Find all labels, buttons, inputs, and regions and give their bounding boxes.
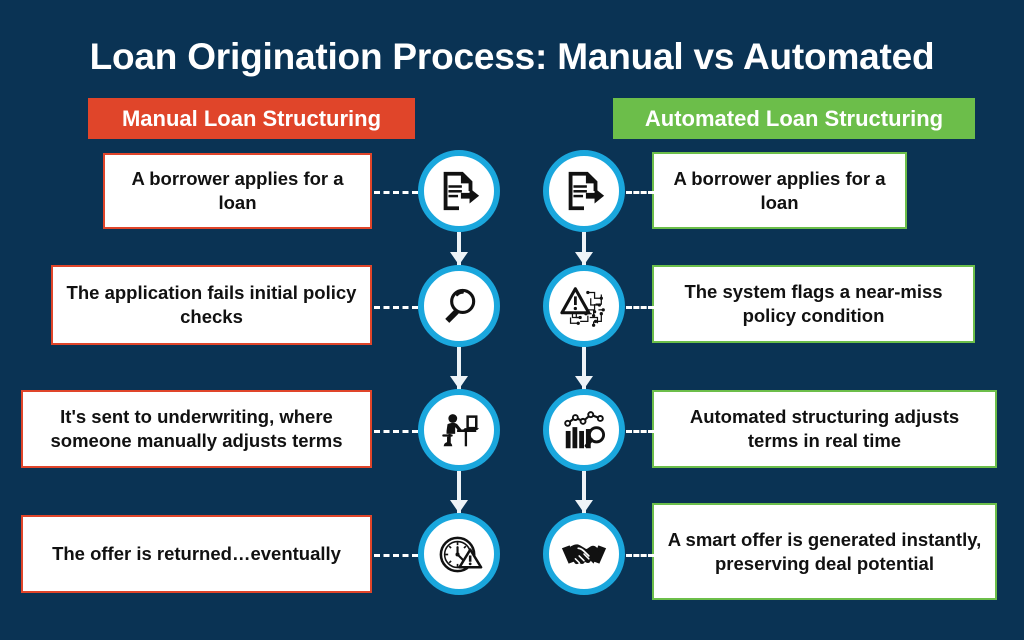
warning-circuit-icon <box>559 281 609 331</box>
infographic-canvas: Loan Origination Process: Manual vs Auto… <box>0 0 1024 640</box>
automated-node-4[interactable] <box>543 513 625 595</box>
manual-node-1[interactable] <box>418 150 500 232</box>
automated-step-box-2: The system flags a near-miss policy cond… <box>652 265 975 343</box>
document-arrow-icon <box>436 168 482 214</box>
person-at-desk-icon <box>436 407 482 453</box>
flow-arrow-automated-1 <box>575 252 593 265</box>
page-title: Loan Origination Process: Manual vs Auto… <box>0 36 1024 78</box>
connector-manual-2 <box>374 306 418 309</box>
flow-arrow-automated-3 <box>575 500 593 513</box>
automated-node-3[interactable] <box>543 389 625 471</box>
connector-automated-4 <box>626 554 654 557</box>
connector-automated-3 <box>626 430 654 433</box>
connector-automated-1 <box>626 191 654 194</box>
flow-arrow-manual-3 <box>450 500 468 513</box>
manual-node-2[interactable] <box>418 265 500 347</box>
manual-step-box-3: It's sent to underwriting, where someone… <box>21 390 372 468</box>
connector-manual-3 <box>374 430 418 433</box>
connector-manual-4 <box>374 554 418 557</box>
handshake-icon <box>560 530 608 578</box>
connector-automated-2 <box>626 306 654 309</box>
connector-manual-1 <box>374 191 418 194</box>
automated-step-box-3: Automated structuring adjusts terms in r… <box>652 390 997 468</box>
manual-step-box-4: The offer is returned…eventually <box>21 515 372 593</box>
flow-arrow-manual-2 <box>450 376 468 389</box>
automated-step-box-4: A smart offer is generated instantly, pr… <box>652 503 997 600</box>
automated-node-2[interactable] <box>543 265 625 347</box>
manual-node-3[interactable] <box>418 389 500 471</box>
clock-warning-icon <box>436 531 483 578</box>
manual-column-badge: Manual Loan Structuring <box>88 98 415 139</box>
automated-column-badge: Automated Loan Structuring <box>613 98 975 139</box>
manual-step-box-2: The application fails initial policy che… <box>51 265 372 345</box>
flow-arrow-manual-1 <box>450 252 468 265</box>
manual-step-box-1: A borrower applies for a loan <box>103 153 372 229</box>
chart-magnifier-icon <box>560 406 608 454</box>
manual-node-4[interactable] <box>418 513 500 595</box>
document-arrow-icon <box>561 168 607 214</box>
automated-node-1[interactable] <box>543 150 625 232</box>
flow-arrow-automated-2 <box>575 376 593 389</box>
automated-step-box-1: A borrower applies for a loan <box>652 152 907 229</box>
magnifier-icon <box>437 284 481 328</box>
